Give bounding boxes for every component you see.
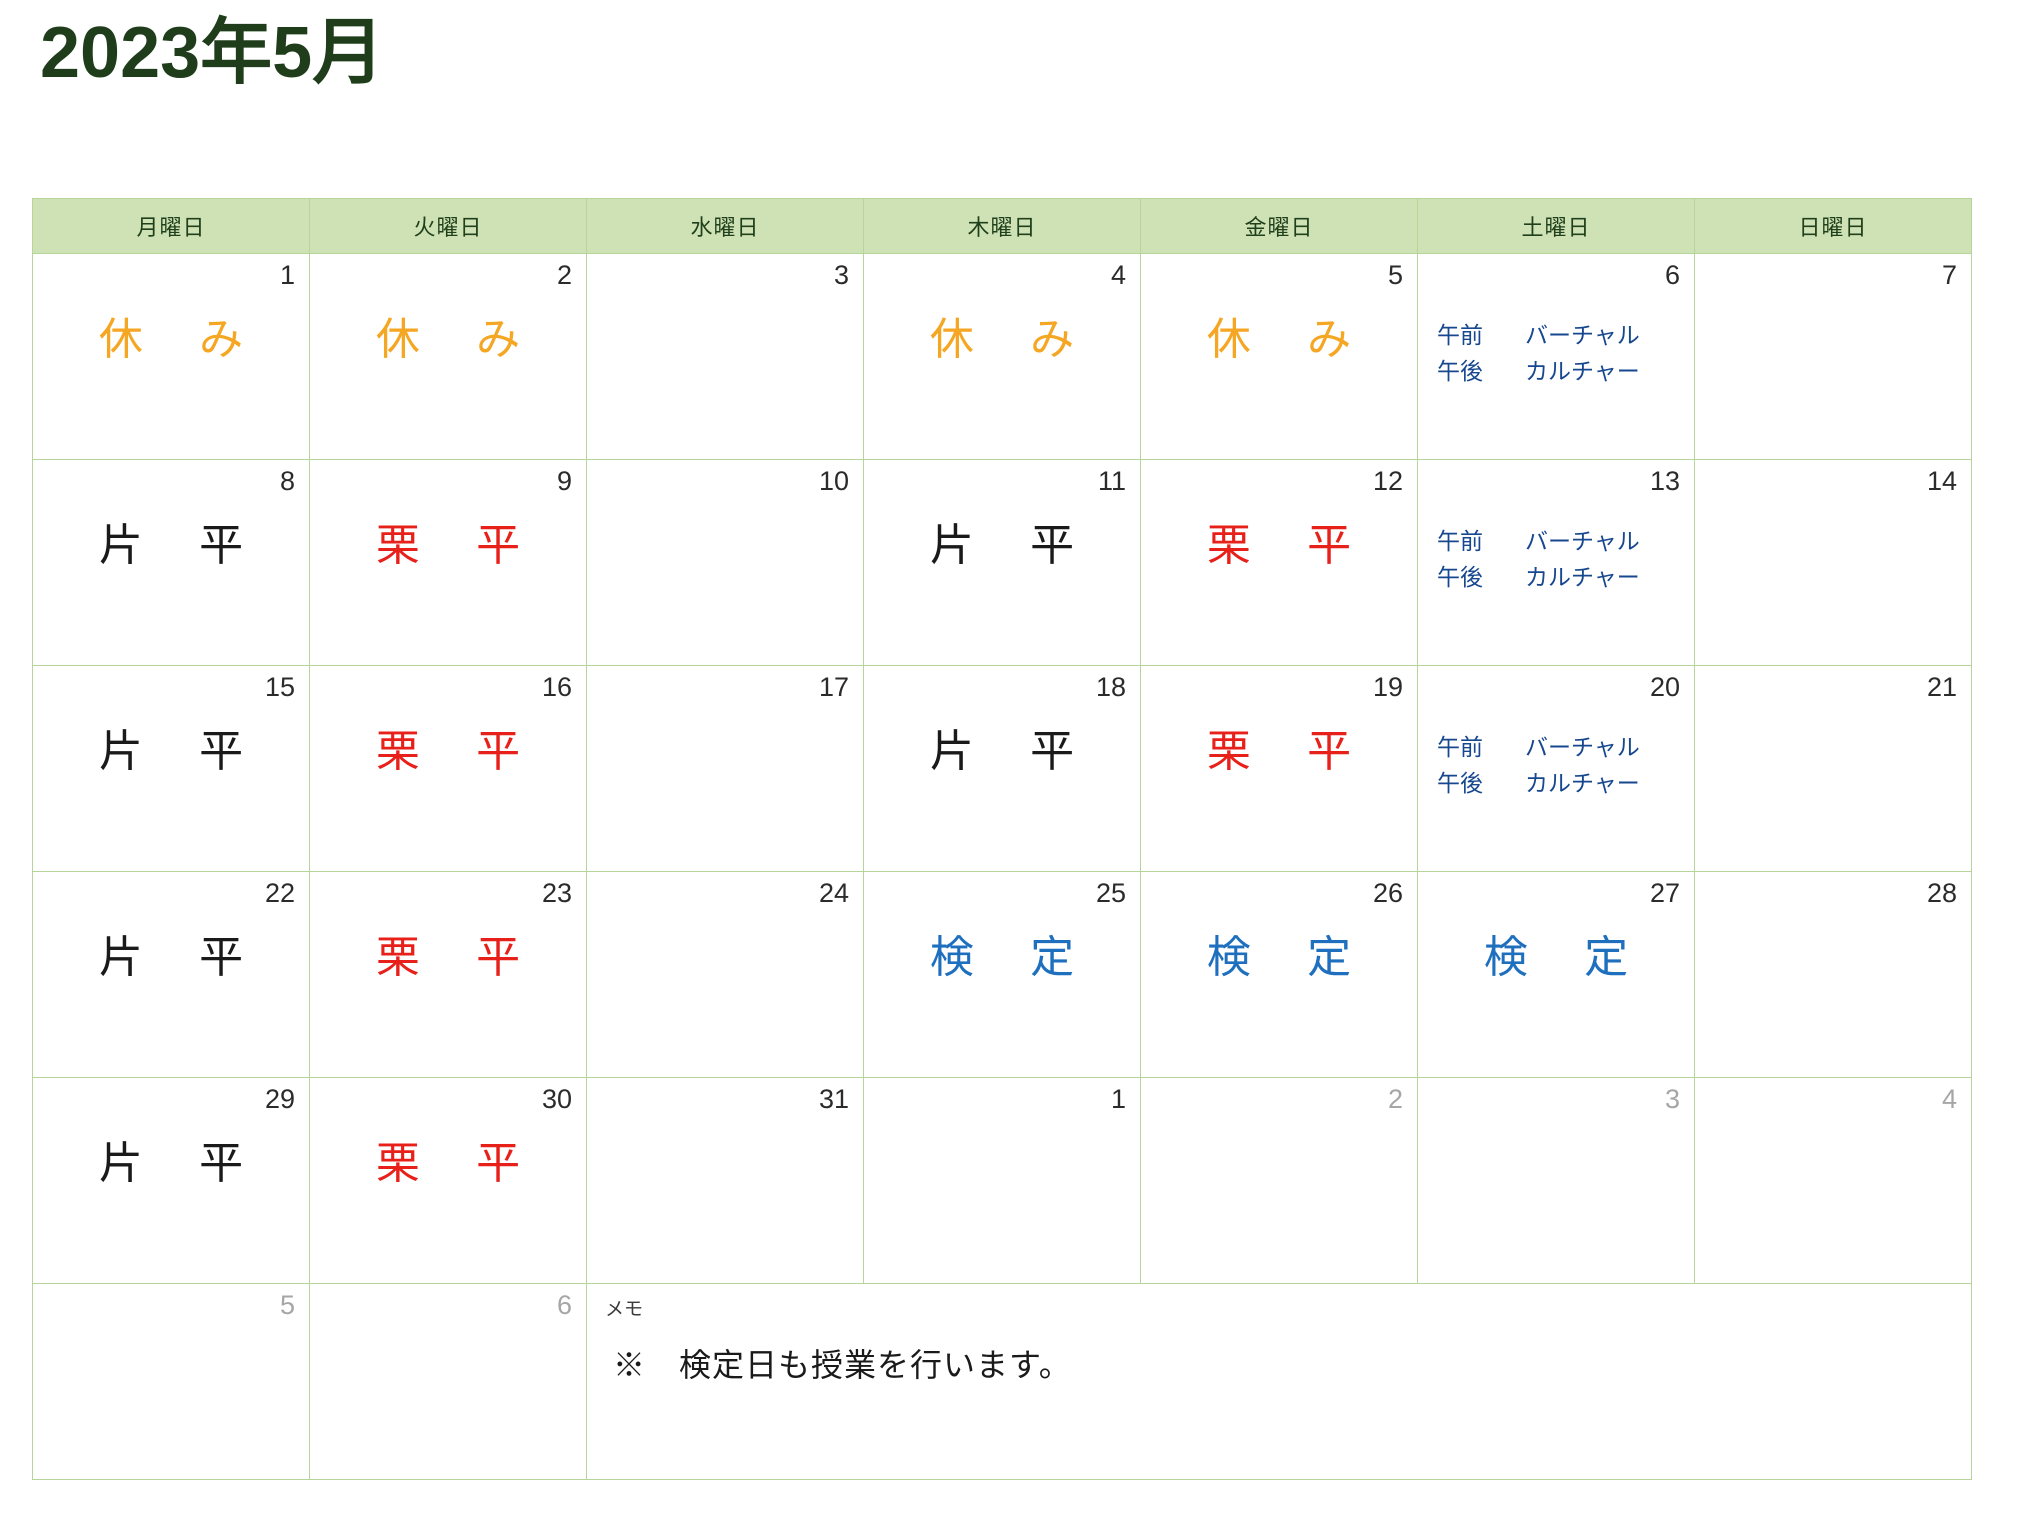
memo-label: メモ	[605, 1294, 643, 1321]
page-title: 2023年5月	[40, 14, 384, 93]
weekday-header-sat: 土曜日	[1418, 199, 1695, 254]
schedule-row: 午前バーチャル	[1418, 524, 1694, 560]
day-number: 6	[557, 1292, 572, 1319]
day-number: 20	[1650, 674, 1680, 701]
calendar-day-cell[interactable]: 15片 平	[33, 666, 310, 872]
day-number: 12	[1373, 468, 1403, 495]
day-event-label: 栗 平	[310, 522, 586, 570]
calendar-day-cell[interactable]: 24	[587, 872, 864, 1078]
day-number: 6	[1665, 262, 1680, 289]
day-number: 11	[1098, 468, 1126, 495]
calendar-day-cell[interactable]: 4	[1695, 1078, 1972, 1284]
day-number: 7	[1942, 262, 1957, 289]
day-number: 3	[834, 262, 849, 289]
calendar-container: 月曜日 火曜日 水曜日 木曜日 金曜日 土曜日 日曜日 1休 み2休 み34休 …	[32, 198, 1972, 1480]
calendar-day-cell[interactable]: 6	[310, 1284, 587, 1480]
calendar-day-cell[interactable]: 5休 み	[1141, 254, 1418, 460]
day-number: 1	[1111, 1086, 1126, 1113]
day-event-label: 検 定	[864, 934, 1140, 982]
calendar-day-cell[interactable]: 31	[587, 1078, 864, 1284]
day-number: 16	[542, 674, 572, 701]
day-event-label: 休 み	[33, 316, 309, 364]
calendar-day-cell[interactable]: 13午前バーチャル午後カルチャー	[1418, 460, 1695, 666]
calendar-day-cell[interactable]: 26検 定	[1141, 872, 1418, 1078]
schedule-event-name: カルチャー	[1525, 354, 1675, 390]
calendar-day-cell[interactable]: 21	[1695, 666, 1972, 872]
day-number: 3	[1665, 1086, 1680, 1113]
day-number: 13	[1650, 468, 1680, 495]
day-event-label: 片 平	[864, 522, 1140, 570]
calendar-body: 1休 み2休 み34休 み5休 み6午前バーチャル午後カルチャー78片 平9栗 …	[33, 254, 1972, 1480]
calendar-day-cell[interactable]: 11片 平	[864, 460, 1141, 666]
day-event-label: 検 定	[1141, 934, 1417, 982]
calendar-day-cell[interactable]: 9栗 平	[310, 460, 587, 666]
calendar-day-cell[interactable]: 8片 平	[33, 460, 310, 666]
calendar-day-cell[interactable]: 6午前バーチャル午後カルチャー	[1418, 254, 1695, 460]
weekday-header-mon: 月曜日	[33, 199, 310, 254]
schedule-row: 午後カルチャー	[1418, 354, 1694, 390]
day-number: 5	[1388, 262, 1403, 289]
weekday-header-thu: 木曜日	[864, 199, 1141, 254]
calendar-day-cell[interactable]: 5	[33, 1284, 310, 1480]
schedule-event-name: カルチャー	[1525, 560, 1675, 596]
schedule-row: 午後カルチャー	[1418, 560, 1694, 596]
day-number: 17	[819, 674, 849, 701]
calendar-week-row: 15片 平16栗 平1718片 平19栗 平20午前バーチャル午後カルチャー21	[33, 666, 1972, 872]
schedule-time-label: 午前	[1437, 318, 1499, 354]
calendar-header-row: 月曜日 火曜日 水曜日 木曜日 金曜日 土曜日 日曜日	[33, 199, 1972, 254]
day-number: 18	[1096, 674, 1126, 701]
day-event-label: 片 平	[33, 728, 309, 776]
calendar-day-cell[interactable]: 25検 定	[864, 872, 1141, 1078]
calendar-day-cell[interactable]: 22片 平	[33, 872, 310, 1078]
schedule-time-label: 午後	[1437, 354, 1499, 390]
schedule-time-label: 午前	[1437, 524, 1499, 560]
calendar-week-row: 22片 平23栗 平2425検 定26検 定27検 定28	[33, 872, 1972, 1078]
day-number: 8	[280, 468, 295, 495]
day-event-label: 休 み	[864, 316, 1140, 364]
calendar-day-cell[interactable]: 1休 み	[33, 254, 310, 460]
memo-cell[interactable]: メモ※ 検定日も授業を行います。	[587, 1284, 1972, 1480]
calendar-day-cell[interactable]: 12栗 平	[1141, 460, 1418, 666]
day-number: 23	[542, 880, 572, 907]
day-number: 25	[1096, 880, 1126, 907]
day-number: 26	[1373, 880, 1403, 907]
calendar-day-cell[interactable]: 19栗 平	[1141, 666, 1418, 872]
calendar-table: 月曜日 火曜日 水曜日 木曜日 金曜日 土曜日 日曜日 1休 み2休 み34休 …	[32, 198, 1972, 1480]
day-number: 9	[557, 468, 572, 495]
schedule-time-label: 午後	[1437, 766, 1499, 802]
day-number: 2	[1388, 1086, 1403, 1113]
schedule-event-name: バーチャル	[1525, 318, 1675, 354]
day-number: 21	[1927, 674, 1957, 701]
day-number: 27	[1650, 880, 1680, 907]
day-number: 30	[542, 1086, 572, 1113]
day-event-label: 栗 平	[310, 1140, 586, 1188]
day-event-schedule: 午前バーチャル午後カルチャー	[1418, 730, 1694, 801]
weekday-header-tue: 火曜日	[310, 199, 587, 254]
memo-text: ※ 検定日も授業を行います。	[613, 1340, 1072, 1386]
day-number: 14	[1927, 468, 1957, 495]
day-number: 24	[819, 880, 849, 907]
day-event-label: 栗 平	[1141, 728, 1417, 776]
day-event-label: 休 み	[1141, 316, 1417, 364]
schedule-time-label: 午後	[1437, 560, 1499, 596]
day-number: 31	[819, 1086, 849, 1113]
calendar-week-row: 8片 平9栗 平1011片 平12栗 平13午前バーチャル午後カルチャー14	[33, 460, 1972, 666]
day-event-label: 片 平	[864, 728, 1140, 776]
calendar-day-cell[interactable]: 3	[587, 254, 864, 460]
day-event-label: 片 平	[33, 1140, 309, 1188]
weekday-header-wed: 水曜日	[587, 199, 864, 254]
day-number: 5	[280, 1292, 295, 1319]
weekday-header-sun: 日曜日	[1695, 199, 1972, 254]
calendar-day-cell[interactable]: 14	[1695, 460, 1972, 666]
calendar-day-cell[interactable]: 2休 み	[310, 254, 587, 460]
day-number: 4	[1111, 262, 1126, 289]
day-event-label: 検 定	[1418, 934, 1694, 982]
day-number: 1	[280, 262, 295, 289]
calendar-day-cell[interactable]: 30栗 平	[310, 1078, 587, 1284]
day-event-label: 栗 平	[310, 934, 586, 982]
calendar-day-cell[interactable]: 17	[587, 666, 864, 872]
calendar-day-cell[interactable]: 29片 平	[33, 1078, 310, 1284]
calendar-day-cell[interactable]: 28	[1695, 872, 1972, 1078]
day-number: 15	[265, 674, 295, 701]
day-event-label: 片 平	[33, 522, 309, 570]
schedule-event-name: カルチャー	[1525, 766, 1675, 802]
day-event-label: 片 平	[33, 934, 309, 982]
day-event-label: 栗 平	[310, 728, 586, 776]
day-event-label: 休 み	[310, 316, 586, 364]
day-event-schedule: 午前バーチャル午後カルチャー	[1418, 524, 1694, 595]
day-number: 10	[819, 468, 849, 495]
calendar-day-cell[interactable]: 2	[1141, 1078, 1418, 1284]
calendar-day-cell[interactable]: 27検 定	[1418, 872, 1695, 1078]
calendar-day-cell[interactable]: 3	[1418, 1078, 1695, 1284]
calendar-page: 2023年5月 月曜日 火曜日 水曜日 木曜日 金曜日 土曜日 日曜日 1休 み…	[0, 0, 2035, 1517]
day-number: 22	[265, 880, 295, 907]
day-number: 29	[265, 1086, 295, 1113]
calendar-day-cell[interactable]: 20午前バーチャル午後カルチャー	[1418, 666, 1695, 872]
schedule-event-name: バーチャル	[1525, 524, 1675, 560]
schedule-row: 午前バーチャル	[1418, 318, 1694, 354]
schedule-row: 午前バーチャル	[1418, 730, 1694, 766]
calendar-day-cell[interactable]: 7	[1695, 254, 1972, 460]
calendar-day-cell[interactable]: 1	[864, 1078, 1141, 1284]
calendar-last-row: 56メモ※ 検定日も授業を行います。	[33, 1284, 1972, 1480]
calendar-week-row: 29片 平30栗 平311234	[33, 1078, 1972, 1284]
day-number: 2	[557, 262, 572, 289]
calendar-day-cell[interactable]: 4休 み	[864, 254, 1141, 460]
day-event-label: 栗 平	[1141, 522, 1417, 570]
calendar-day-cell[interactable]: 23栗 平	[310, 872, 587, 1078]
weekday-header-fri: 金曜日	[1141, 199, 1418, 254]
day-number: 19	[1373, 674, 1403, 701]
schedule-event-name: バーチャル	[1525, 730, 1675, 766]
schedule-time-label: 午前	[1437, 730, 1499, 766]
day-event-schedule: 午前バーチャル午後カルチャー	[1418, 318, 1694, 389]
day-number: 28	[1927, 880, 1957, 907]
calendar-day-cell[interactable]: 16栗 平	[310, 666, 587, 872]
calendar-day-cell[interactable]: 10	[587, 460, 864, 666]
day-number: 4	[1942, 1086, 1957, 1113]
schedule-row: 午後カルチャー	[1418, 766, 1694, 802]
calendar-week-row: 1休 み2休 み34休 み5休 み6午前バーチャル午後カルチャー7	[33, 254, 1972, 460]
calendar-day-cell[interactable]: 18片 平	[864, 666, 1141, 872]
